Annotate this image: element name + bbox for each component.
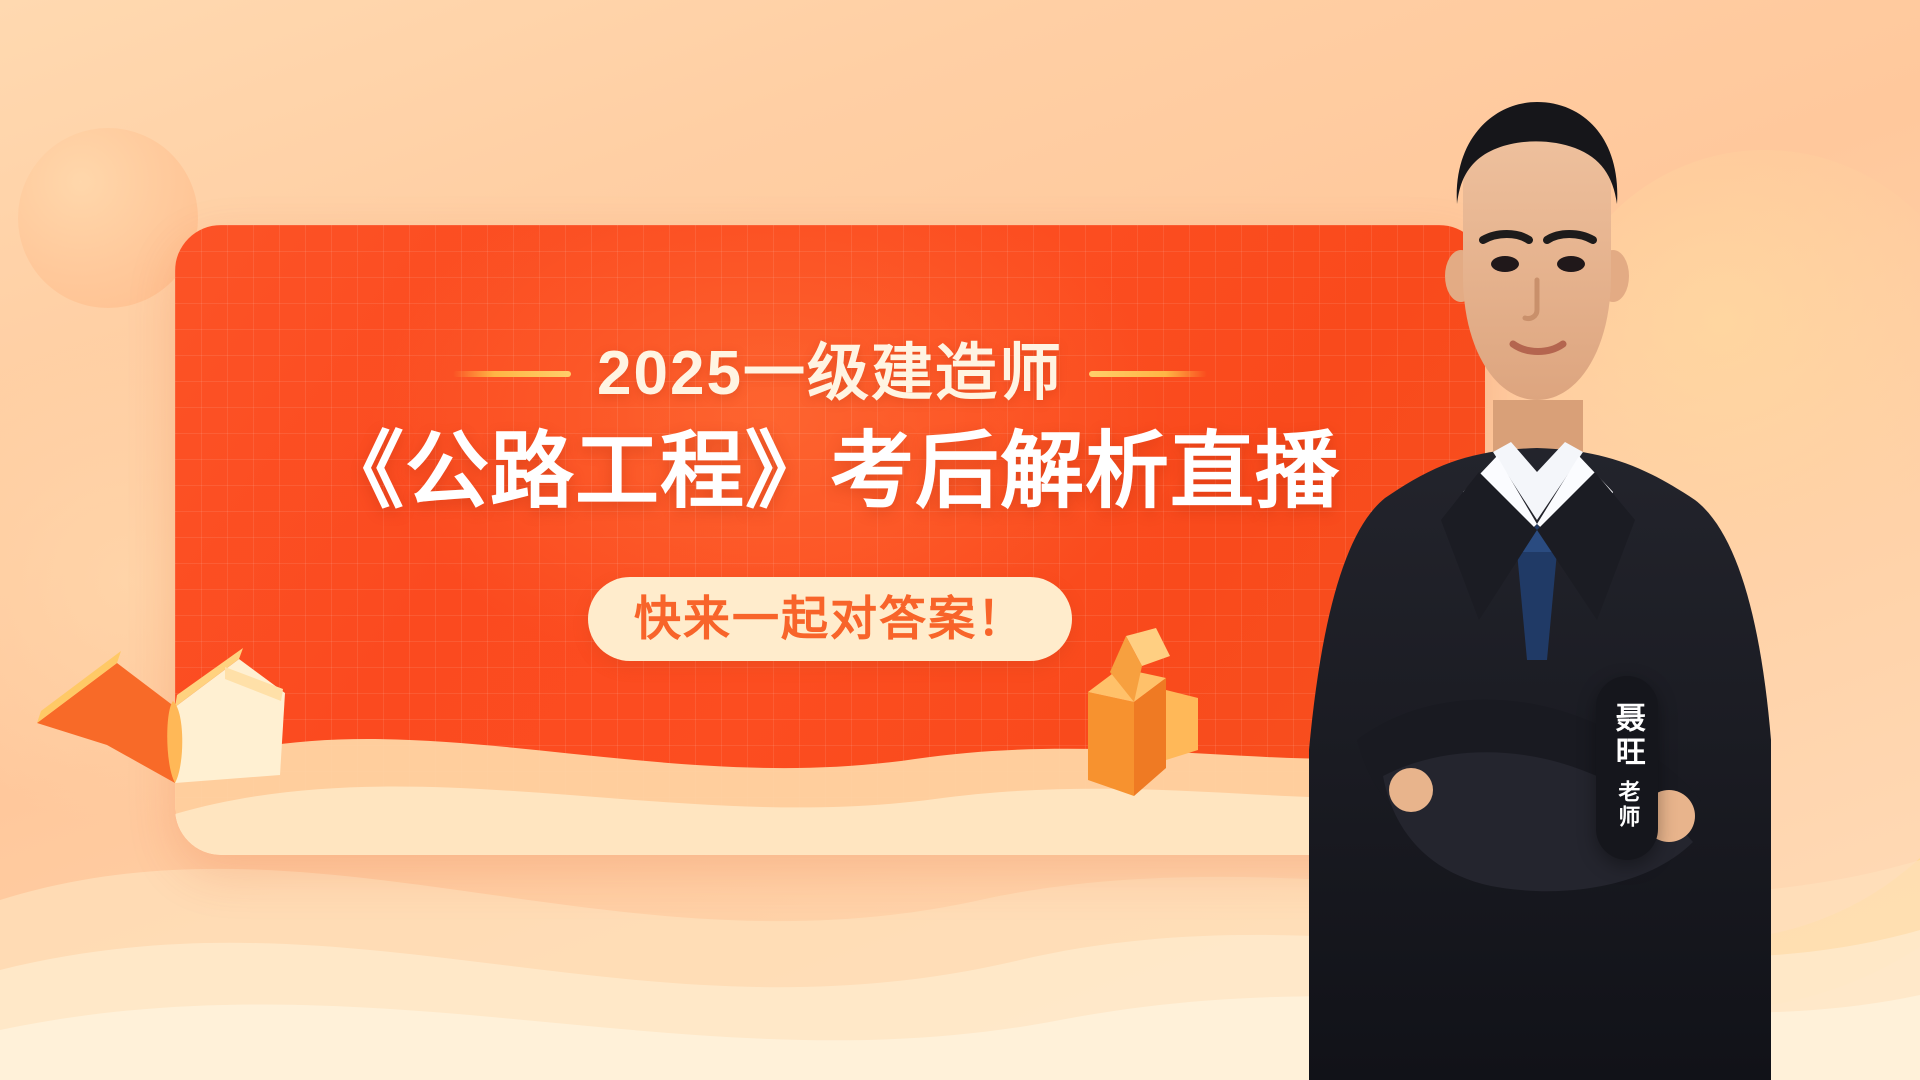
promo-banner: 2025一级建造师 《公路工程》考后解析直播 快来一起对答案！ <box>0 0 1920 1080</box>
instructor-role: 老师 <box>1615 780 1640 830</box>
open-book-icon <box>25 615 295 800</box>
title-rule-right <box>1089 371 1207 377</box>
instructor-name-badge: 聂旺 老师 <box>1596 676 1658 860</box>
instructor-photo <box>1265 100 1825 1080</box>
decorative-circle <box>18 128 198 308</box>
page-title: 2025一级建造师 <box>597 343 1063 405</box>
thumbs-up-icon <box>1030 620 1220 810</box>
title-rule-left <box>453 371 571 377</box>
instructor-name: 聂旺 <box>1610 702 1644 770</box>
